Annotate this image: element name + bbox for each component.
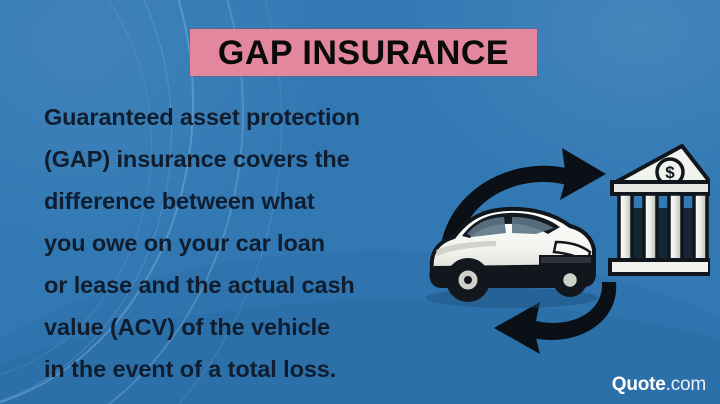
- body-line: value (ACV) of the vehicle: [44, 306, 444, 348]
- bank-dollar-symbol: $: [665, 163, 675, 182]
- infographic-card: GAP INSURANCE Guaranteed asset protectio…: [0, 0, 720, 404]
- body-paragraph: Guaranteed asset protection (GAP) insura…: [44, 96, 444, 390]
- body-line: difference between what: [44, 180, 444, 222]
- body-line: or lease and the actual cash: [44, 264, 444, 306]
- watermark-brand: Quote: [612, 374, 666, 395]
- title-banner: GAP INSURANCE: [190, 29, 537, 76]
- body-line: Guaranteed asset protection: [44, 96, 444, 138]
- car-bank-graphic: $: [420, 130, 710, 360]
- watermark-tld: .com: [666, 374, 706, 395]
- body-line: (GAP) insurance covers the: [44, 138, 444, 180]
- body-line: you owe on your car loan: [44, 222, 444, 264]
- body-line: in the event of a total loss.: [44, 348, 444, 390]
- page-title: GAP INSURANCE: [218, 36, 509, 70]
- bank-building-illustration: $: [610, 146, 710, 274]
- watermark: Quote.com: [612, 374, 706, 396]
